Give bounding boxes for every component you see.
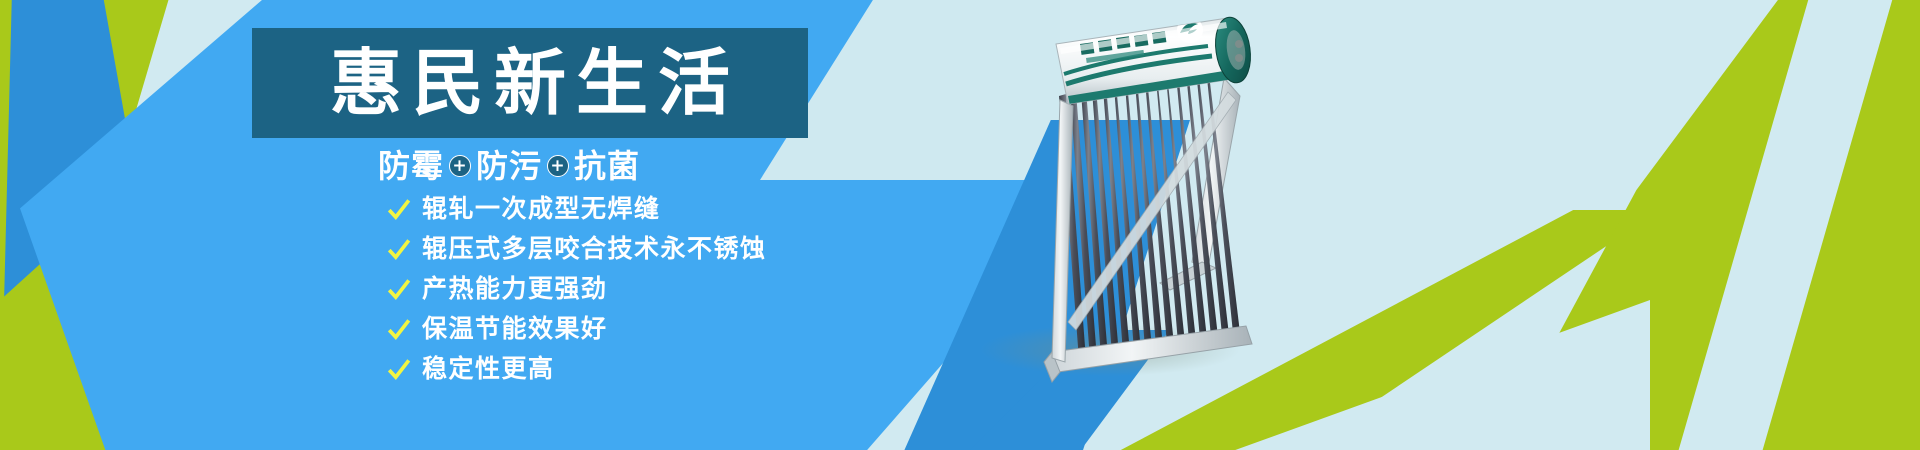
check-icon <box>386 236 412 262</box>
list-item: 稳定性更高 <box>386 352 767 385</box>
check-icon <box>386 276 412 302</box>
subtitle-part-2: 防污 <box>476 141 542 187</box>
subtitle: 防霉 + 防污 + 抗菌 <box>378 140 808 188</box>
list-item-label: 辊轧一次成型无焊缝 <box>422 196 661 221</box>
list-item-label: 产热能力更强劲 <box>422 276 608 301</box>
list-item: 辊轧一次成型无焊缝 <box>386 192 767 225</box>
product-image-solar-water-heater <box>940 0 1360 450</box>
headline-block: 惠民新生活 <box>252 28 808 138</box>
list-item-label: 辊压式多层咬合技术永不锈蚀 <box>422 236 767 261</box>
tank-fitting-bottom <box>1235 54 1243 62</box>
tank-fitting-top <box>1235 40 1243 48</box>
check-icon <box>386 316 412 342</box>
promo-banner: 惠民新生活 防霉 + 防污 + 抗菌 辊轧一次成型无焊缝 辊压式多层咬合技术永不… <box>0 0 1920 450</box>
feature-list: 辊轧一次成型无焊缝 辊压式多层咬合技术永不锈蚀 产热能力更强劲 保温节能效果好 … <box>386 192 767 385</box>
plus-icon-1: + <box>449 155 471 177</box>
check-icon <box>386 196 412 222</box>
plus-icon-2: + <box>547 155 569 177</box>
list-item-label: 稳定性更高 <box>422 356 555 381</box>
list-item: 保温节能效果好 <box>386 312 767 345</box>
list-item-label: 保温节能效果好 <box>422 316 608 341</box>
page-title: 惠民新生活 <box>320 47 740 119</box>
list-item: 辊压式多层咬合技术永不锈蚀 <box>386 232 767 265</box>
subtitle-part-3: 抗菌 <box>574 141 640 187</box>
check-icon <box>386 356 412 382</box>
list-item: 产热能力更强劲 <box>386 272 767 305</box>
subtitle-part-1: 防霉 <box>378 141 444 187</box>
